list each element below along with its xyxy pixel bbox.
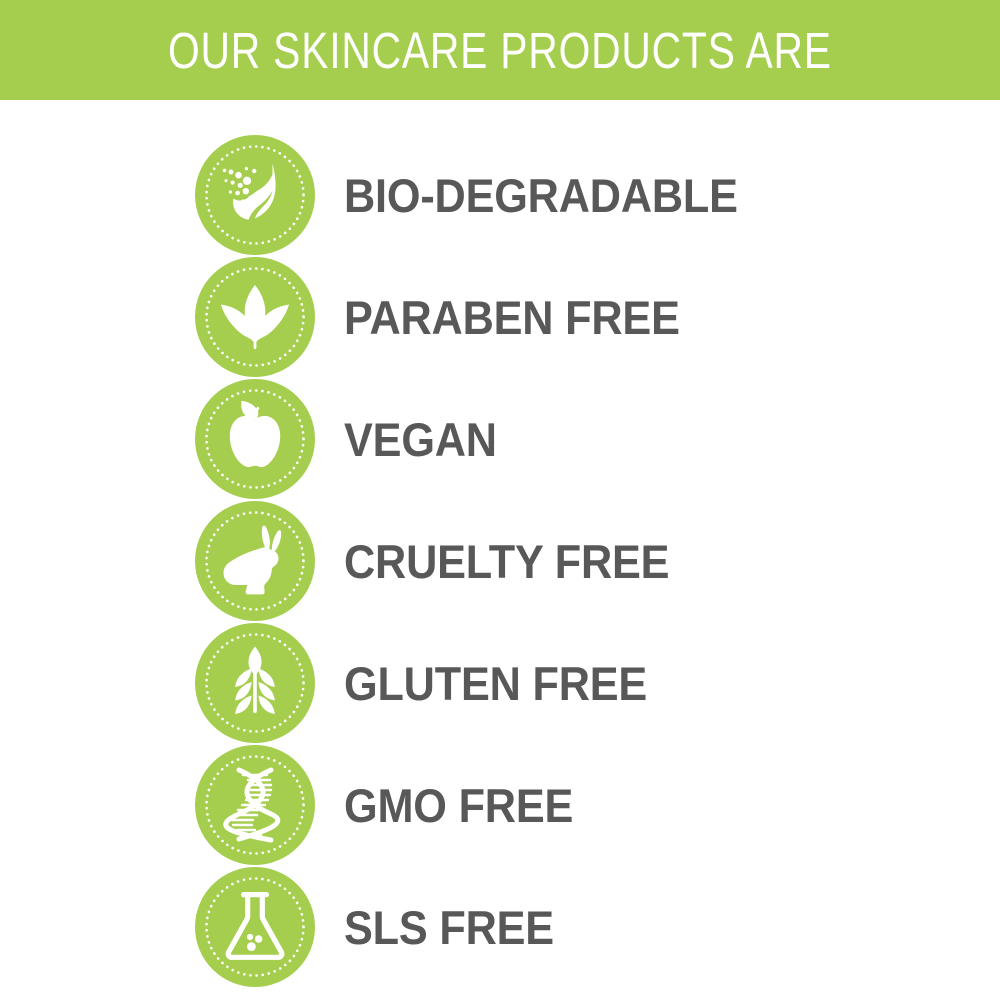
three-leaves-icon xyxy=(195,257,315,377)
feature-badge xyxy=(195,623,315,743)
feature-label: SLS FREE xyxy=(344,904,554,951)
list-item: BIO-DEGRADABLE xyxy=(195,135,955,255)
lab-flask-icon xyxy=(195,867,315,987)
list-item: PARABEN FREE xyxy=(195,257,955,377)
feature-label: PARABEN FREE xyxy=(344,294,680,341)
list-item: GMO FREE xyxy=(195,745,955,865)
feature-badge xyxy=(195,745,315,865)
list-item: SLS FREE xyxy=(195,867,955,987)
feature-badge xyxy=(195,257,315,377)
list-item: CRUELTY FREE xyxy=(195,501,955,621)
feature-badge xyxy=(195,135,315,255)
page-title: OUR SKINCARE PRODUCTS ARE xyxy=(168,25,832,76)
feature-label: BIO-DEGRADABLE xyxy=(344,172,738,219)
dna-helix-icon xyxy=(195,745,315,865)
feature-label: VEGAN xyxy=(344,416,497,463)
apple-icon xyxy=(195,379,315,499)
rabbit-icon xyxy=(195,501,315,621)
feature-label: CRUELTY FREE xyxy=(344,538,669,585)
feature-badge xyxy=(195,379,315,499)
feature-label: GLUTEN FREE xyxy=(344,660,647,707)
infographic-page: OUR SKINCARE PRODUCTS ARE xyxy=(0,0,1000,1000)
list-item: GLUTEN FREE xyxy=(195,623,955,743)
feature-badge xyxy=(195,867,315,987)
feature-list: BIO-DEGRADABLE xyxy=(0,100,1000,1000)
list-item: VEGAN xyxy=(195,379,955,499)
leaf-dissolving-icon xyxy=(195,135,315,255)
feature-label: GMO FREE xyxy=(344,782,573,829)
header-band: OUR SKINCARE PRODUCTS ARE xyxy=(0,0,1000,100)
wheat-stalk-icon xyxy=(195,623,315,743)
feature-badge xyxy=(195,501,315,621)
